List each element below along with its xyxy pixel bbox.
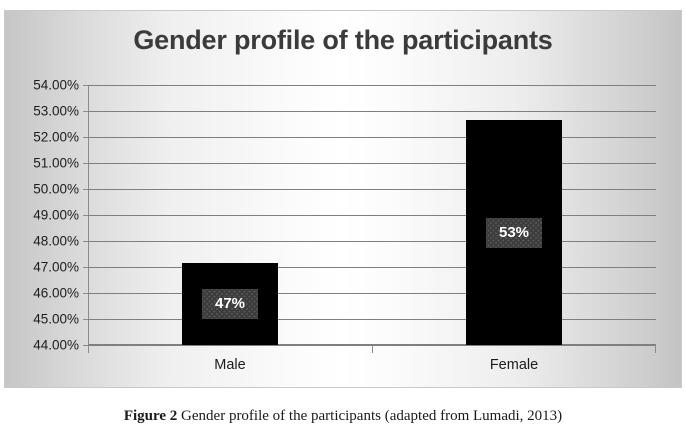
gridline [88,85,656,86]
chart-frame: Gender profile of the participants 54.00… [4,10,682,388]
chart-title: Gender profile of the participants [5,25,681,56]
x-axis-label-female: Female [490,357,538,373]
y-axis-label: 50.00% [33,182,79,197]
bar-male[interactable]: 47% [182,263,278,345]
y-axis-label: 48.00% [33,234,79,249]
y-axis-tick [83,293,88,294]
x-axis-category-divider [372,345,373,353]
y-axis-tick [83,163,88,164]
y-axis-label: 53.00% [33,104,79,119]
gridline [88,293,656,294]
bar-value-label: 53% [486,218,542,248]
y-axis-tick [83,267,88,268]
gridline [88,267,656,268]
figure-caption: Figure 2 Gender profile of the participa… [0,408,686,425]
bar-female[interactable]: 53% [466,120,562,345]
gridline [88,215,656,216]
y-axis-label: 47.00% [33,260,79,275]
x-axis-end-tick [88,345,89,353]
y-axis-label: 45.00% [33,312,79,327]
x-axis-label-male: Male [214,357,245,373]
figure-caption-number: Figure 2 [124,408,177,424]
gridline [88,163,656,164]
y-axis-label: 49.00% [33,208,79,223]
plot-area: 54.00%53.00%52.00%51.00%50.00%49.00%48.0… [88,85,656,345]
y-axis-label: 51.00% [33,156,79,171]
y-axis-label: 54.00% [33,78,79,93]
y-axis-tick [83,111,88,112]
x-axis-end-tick [655,345,656,353]
gridline [88,189,656,190]
y-axis-tick [83,215,88,216]
gridline [88,137,656,138]
y-axis-tick [83,319,88,320]
y-axis-tick [83,189,88,190]
y-axis-tick [83,85,88,86]
y-axis-label: 46.00% [33,286,79,301]
gridline [88,241,656,242]
y-axis-label: 44.00% [33,338,79,353]
gridline [88,111,656,112]
gridline [88,319,656,320]
figure-caption-text: Gender profile of the participants (adap… [177,408,562,424]
bar-value-label: 47% [202,289,258,319]
y-axis-tick [83,241,88,242]
y-axis-label: 52.00% [33,130,79,145]
y-axis-tick [83,137,88,138]
